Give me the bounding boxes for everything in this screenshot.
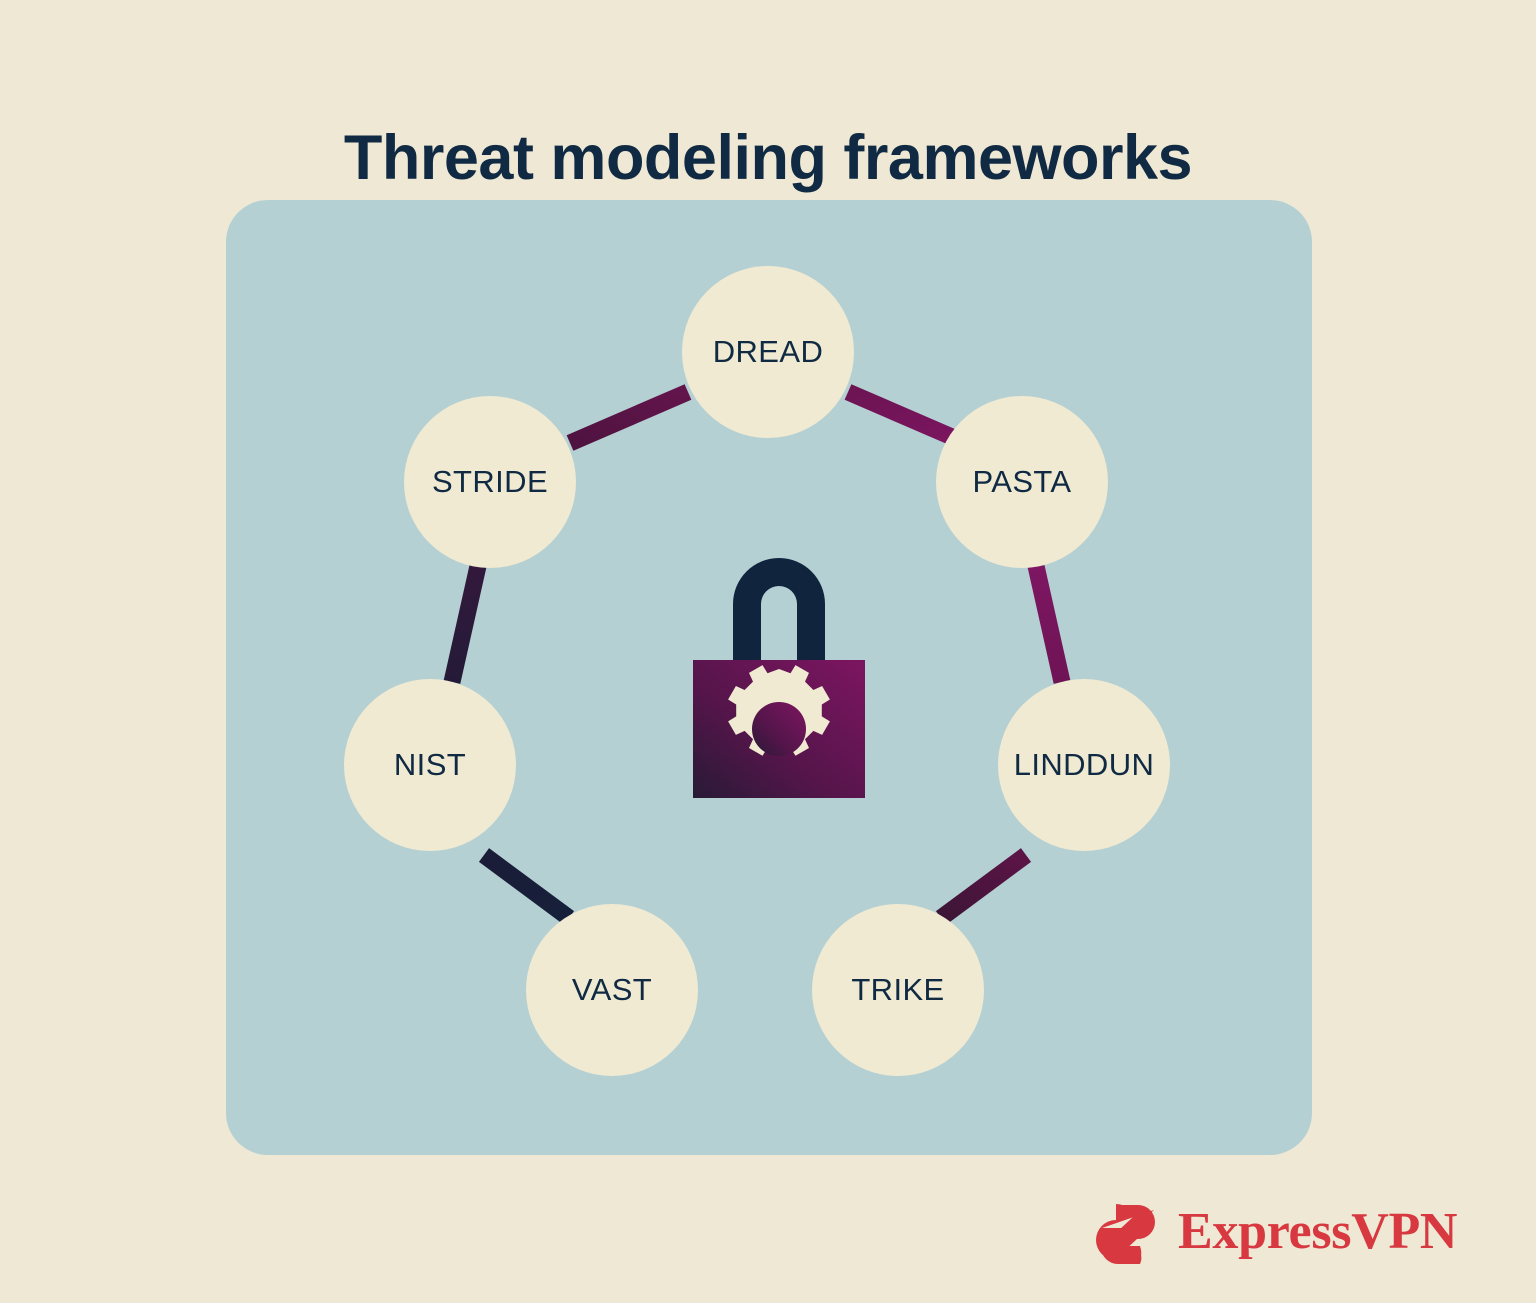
shackle-shape	[733, 558, 825, 666]
connector-linddun-trike	[941, 855, 1026, 918]
infographic-page: Threat modeling frameworks	[0, 0, 1536, 1303]
logo-wordmark: ExpressVPN	[1178, 1206, 1457, 1258]
node-nist[interactable]: NIST	[344, 679, 516, 851]
expressvpn-logo: ExpressVPN	[1092, 1196, 1457, 1268]
node-label: STRIDE	[432, 464, 548, 500]
connector-stride-dread	[570, 392, 688, 443]
node-pasta[interactable]: PASTA	[936, 396, 1108, 568]
node-trike[interactable]: TRIKE	[812, 904, 984, 1076]
page-title: Threat modeling frameworks	[0, 124, 1536, 193]
node-linddun[interactable]: LINDDUN	[998, 679, 1170, 851]
node-label: TRIKE	[851, 972, 944, 1008]
expressvpn-e-mark-icon	[1092, 1196, 1164, 1268]
node-label: LINDDUN	[1014, 747, 1155, 783]
node-dread[interactable]: DREAD	[682, 266, 854, 438]
node-label: DREAD	[713, 334, 824, 370]
connector-vast-nist	[484, 855, 569, 918]
node-vast[interactable]: VAST	[526, 904, 698, 1076]
node-label: VAST	[572, 972, 652, 1008]
node-label: PASTA	[972, 464, 1071, 500]
connector-pasta-linddun	[1036, 566, 1062, 682]
node-stride[interactable]: STRIDE	[404, 396, 576, 568]
padlock-gear-icon	[689, 538, 869, 800]
connector-nist-stride	[452, 566, 478, 682]
diagram-stage: DREAD PASTA LINDDUN TRIKE VAST NIST STRI…	[226, 200, 1312, 1155]
node-label: NIST	[394, 747, 466, 783]
